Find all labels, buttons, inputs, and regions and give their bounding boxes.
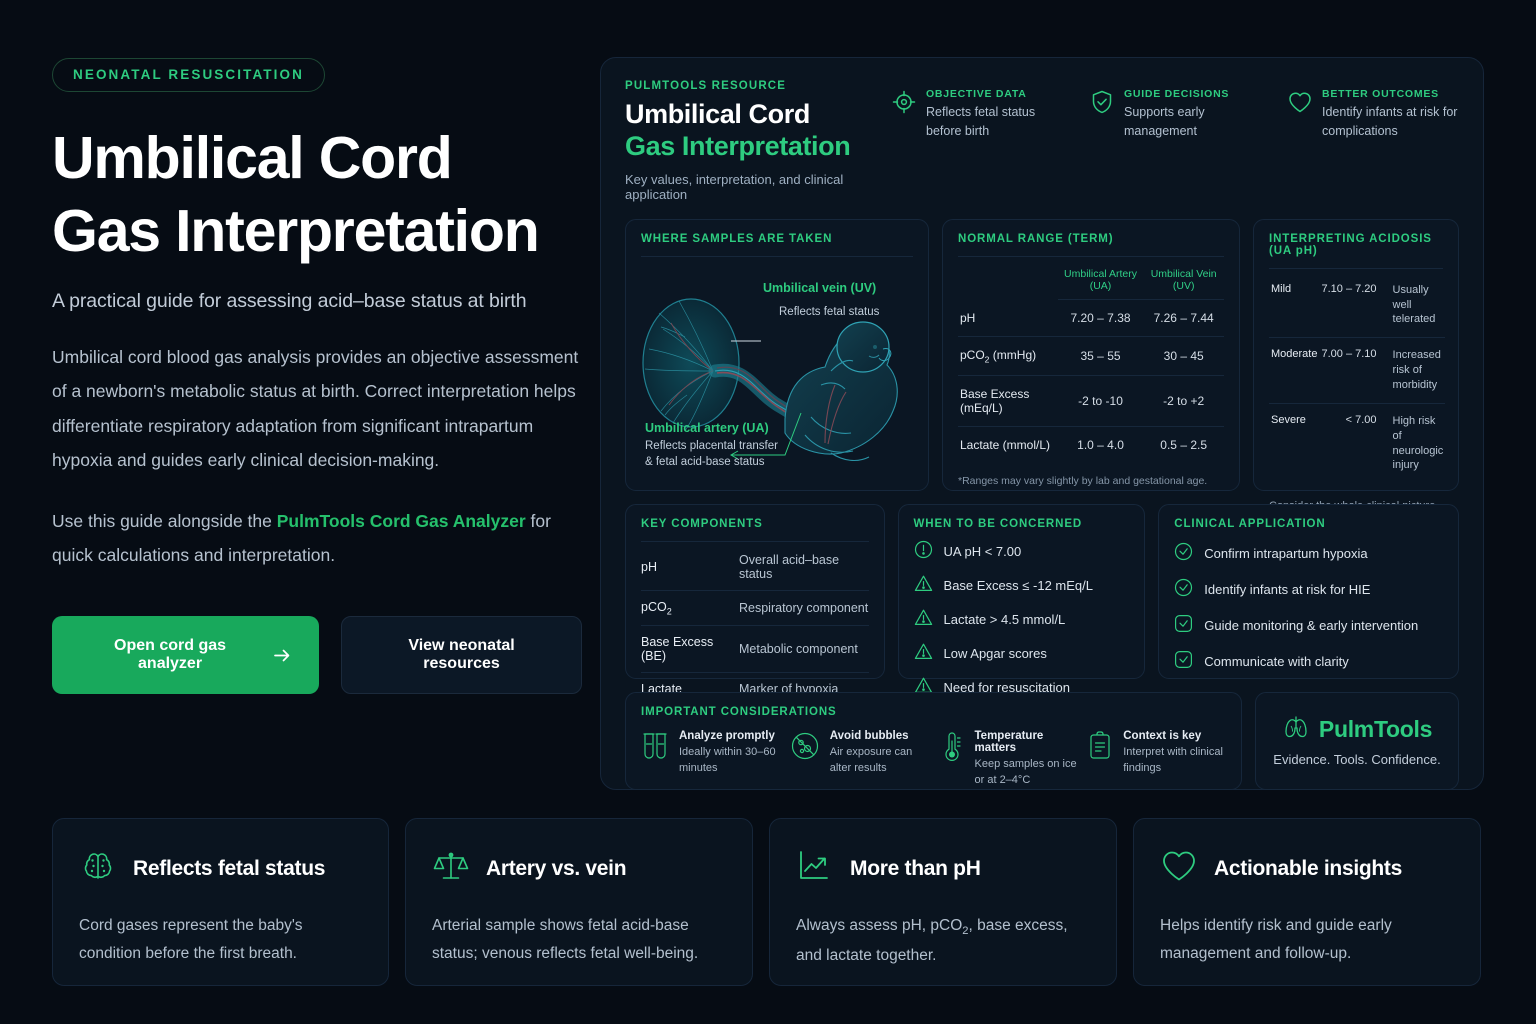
table-row: pH 7.20 – 7.38 7.26 – 7.44 (958, 299, 1224, 336)
row-ua-value: 7.20 – 7.38 (1058, 299, 1144, 336)
row-ua-value: 35 – 55 (1058, 336, 1144, 375)
component-desc: Overall acid–base status (739, 544, 869, 591)
umbilical-vein-label: Umbilical vein (UV) (763, 281, 893, 295)
considerations-grid: Analyze promptly Ideally within 30–60 mi… (641, 730, 1226, 789)
card-header: Artery vs. vein (432, 847, 726, 890)
vein-label-title: Umbilical vein (UV) (763, 281, 893, 295)
summary-card-more-than-ph: More than pH Always assess pH, pCO2, bas… (769, 818, 1117, 986)
panel-row-1: WHERE SAMPLES ARE TAKEN (625, 219, 1459, 491)
concern-text: Low Apgar scores (944, 646, 1047, 661)
key-components-card: KEY COMPONENTS pH Overall acid–base stat… (625, 504, 885, 679)
feature-title: GUIDE DECISIONS (1124, 88, 1261, 100)
row-label: pCO2 (mmHg) (958, 336, 1058, 375)
cta-paragraph: Use this guide alongside the PulmTools C… (52, 504, 582, 572)
concern-text: Lactate > 4.5 mmol/L (944, 612, 1066, 627)
heart-outline-icon (1160, 847, 1198, 890)
interpreting-acidosis-card: INTERPRETING ACIDOSIS (UA pH) Mild 7.10 … (1253, 219, 1459, 491)
clinical-text: Identify infants at risk for HIE (1204, 582, 1370, 597)
col-header-ua: Umbilical Artery (UA) (1058, 259, 1144, 300)
panel-header: PULMTOOLS RESOURCE Umbilical Cord Gas In… (625, 80, 1459, 202)
row-uv-value: 30 – 45 (1143, 336, 1224, 375)
table-row: Mild 7.10 – 7.20 Usually well telerated (1269, 273, 1445, 338)
brand-tagline: Evidence. Tools. Confidence. (1273, 752, 1440, 767)
summary-cards: Reflects fetal status Cord gases represe… (52, 818, 1481, 986)
divider (641, 256, 913, 257)
component-name: pH (641, 544, 739, 591)
feature-better-outcomes: BETTER OUTCOMES Identify infants at risk… (1287, 88, 1459, 141)
infographic-page: NEONATAL RESUSCITATION Umbilical Cord Ga… (0, 0, 1536, 1024)
pulmtools-brand-card: PulmTools Evidence. Tools. Confidence. (1255, 692, 1459, 790)
consideration-title: Context is key (1123, 730, 1226, 742)
page-title: Umbilical Cord Gas Interpretation (52, 122, 582, 268)
severity-desc: Usually well telerated (1385, 273, 1446, 338)
artery-label-desc: Reflects placental transfer & fetal acid… (645, 438, 785, 471)
card-title: Artery vs. vein (486, 857, 626, 881)
clipboard-icon (1087, 730, 1113, 789)
table-row: Moderate 7.00 – 7.10 Increased risk of m… (1269, 338, 1445, 404)
alert-circle-icon (914, 540, 933, 564)
warning-triangle-icon (914, 608, 933, 632)
warning-triangle-icon (914, 574, 933, 598)
severity-label: Moderate (1269, 338, 1319, 404)
table-header-row: Umbilical Artery (UA) Umbilical Vein (UV… (958, 259, 1224, 300)
table-row: Base Excess (BE) Metabolic component (641, 626, 869, 673)
card-desc: Arterial sample shows fetal acid-base st… (432, 912, 726, 967)
panel-subtitle: Key values, interpretation, and clinical… (625, 172, 873, 202)
clinical-application-card: CLINICAL APPLICATION Confirm intrapartum… (1158, 504, 1459, 679)
brand-row: PulmTools (1282, 714, 1432, 745)
consideration-temperature-matters: Temperature matters Keep samples on ice … (939, 730, 1078, 789)
card-title: KEY COMPONENTS (641, 518, 869, 530)
card-title: WHERE SAMPLES ARE TAKEN (641, 233, 913, 245)
row-uv-value: 0.5 – 2.5 (1143, 427, 1224, 464)
clinical-text: Confirm intrapartum hypoxia (1204, 546, 1367, 561)
no-bubbles-icon (790, 730, 820, 789)
row-uv-value: -2 to +2 (1143, 376, 1224, 427)
consideration-context-is-key: Context is key Interpret with clinical f… (1087, 730, 1226, 789)
check-circle-icon (1174, 578, 1193, 602)
hero-button-row: Open cord gas analyzer View neonatal res… (52, 616, 582, 694)
list-item: Lactate > 4.5 mmol/L (914, 608, 1130, 632)
summary-card-reflects-fetal-status: Reflects fetal status Cord gases represe… (52, 818, 389, 986)
severity-desc: High risk of neurologic injury (1385, 403, 1446, 483)
consideration-desc: Ideally within 30–60 minutes (679, 744, 780, 777)
component-desc: Metabolic component (739, 626, 869, 673)
severity-label: Severe (1269, 403, 1319, 483)
panel-header-text: PULMTOOLS RESOURCE Umbilical Cord Gas In… (625, 80, 873, 202)
severity-label: Mild (1269, 273, 1319, 338)
table-row: Severe < 7.00 High risk of neurologic in… (1269, 403, 1445, 483)
feature-objective-data: OBJECTIVE DATA Reflects fetal status bef… (891, 88, 1063, 141)
clinical-text: Communicate with clarity (1204, 654, 1349, 669)
view-neonatal-resources-button[interactable]: View neonatal resources (341, 616, 582, 694)
acidosis-table: Mild 7.10 – 7.20 Usually well telerated … (1269, 273, 1445, 483)
when-to-be-concerned-card: WHEN TO BE CONCERNED UA pH < 7.00 (898, 504, 1146, 679)
arrow-right-icon (274, 649, 291, 662)
check-square-icon (1174, 650, 1193, 674)
row-label: Lactate (mmol/L) (958, 427, 1058, 464)
list-item: Guide monitoring & early intervention (1174, 614, 1443, 638)
severity-desc: Increased risk of morbidity (1385, 338, 1446, 404)
title-line-2: Gas Interpretation (52, 198, 539, 264)
scales-icon (432, 847, 470, 890)
panel-title-line-1: Umbilical Cord (625, 98, 873, 130)
list-item: UA pH < 7.00 (914, 540, 1130, 564)
panel-row-2: KEY COMPONENTS pH Overall acid–base stat… (625, 504, 1459, 679)
consideration-analyze-promptly: Analyze promptly Ideally within 30–60 mi… (641, 730, 780, 789)
row-ua-value: 1.0 – 4.0 (1058, 427, 1144, 464)
anatomy-illustration: Umbilical vein (UV) Reflects fetal statu… (641, 263, 913, 487)
col-header-blank (958, 259, 1058, 300)
row-label: Base Excess (mEq/L) (958, 376, 1058, 427)
hero-section: NEONATAL RESUSCITATION Umbilical Cord Ga… (52, 58, 582, 694)
card-title: More than pH (850, 857, 981, 881)
check-circle-icon (1174, 542, 1193, 566)
summary-card-actionable-insights: Actionable insights Helps identify risk … (1133, 818, 1481, 986)
card-title: IMPORTANT CONSIDERATIONS (641, 706, 1226, 718)
table-row: pH Overall acid–base status (641, 544, 869, 591)
thermometer-icon (939, 730, 965, 789)
normal-range-table: Umbilical Artery (UA) Umbilical Vein (UV… (958, 259, 1224, 463)
clinical-text: Guide monitoring & early intervention (1204, 618, 1418, 633)
card-header: Reflects fetal status (79, 847, 362, 890)
where-samples-are-taken-card: WHERE SAMPLES ARE TAKEN (625, 219, 929, 491)
brand-name: PulmTools (1319, 716, 1432, 743)
card-title: NORMAL RANGE (TERM) (958, 233, 1224, 245)
trending-up-icon (796, 847, 834, 890)
umbilical-vein-desc: Reflects fetal status (779, 301, 889, 321)
intro-paragraph: Umbilical cord blood gas analysis provid… (52, 340, 582, 477)
table-row: Lactate (mmol/L) 1.0 – 4.0 0.5 – 2.5 (958, 427, 1224, 464)
component-desc: Respiratory component (739, 590, 869, 626)
divider (1269, 268, 1443, 269)
category-badge: NEONATAL RESUSCITATION (52, 58, 325, 92)
row-uv-value: 7.26 – 7.44 (1143, 299, 1224, 336)
concern-text: UA pH < 7.00 (944, 544, 1022, 559)
heart-icon (1287, 89, 1313, 141)
severity-range: 7.10 – 7.20 (1319, 273, 1384, 338)
primary-button-label: Open cord gas analyzer (80, 637, 260, 673)
consideration-desc: Air exposure can alter results (830, 744, 929, 777)
analyzer-link[interactable]: PulmTools Cord Gas Analyzer (277, 511, 526, 531)
card-header: Actionable insights (1160, 847, 1454, 890)
feature-guide-decisions: GUIDE DECISIONS Supports early managemen… (1089, 88, 1261, 141)
panel-title-line-2: Gas Interpretation (625, 130, 873, 162)
list-item: Identify infants at risk for HIE (1174, 578, 1443, 602)
table-row: Base Excess (mEq/L) -2 to -10 -2 to +2 (958, 376, 1224, 427)
panel-feature-list: OBJECTIVE DATA Reflects fetal status bef… (891, 88, 1459, 141)
list-item: Confirm intrapartum hypoxia (1174, 542, 1443, 566)
title-line-1: Umbilical Cord (52, 125, 452, 191)
feature-title: BETTER OUTCOMES (1322, 88, 1459, 100)
artery-label-title: Umbilical artery (UA) (645, 421, 785, 435)
target-icon (891, 89, 917, 141)
normal-range-note: *Ranges may vary slightly by lab and ges… (958, 475, 1224, 487)
component-name: Base Excess (BE) (641, 626, 739, 673)
card-title: Reflects fetal status (133, 857, 325, 881)
consideration-title: Temperature matters (975, 730, 1078, 754)
feature-desc: Identify infants at risk for complicatio… (1322, 103, 1459, 141)
list-item: Base Excess ≤ -12 mEq/L (914, 574, 1130, 598)
card-desc: Always assess pH, pCO2, base excess, and… (796, 912, 1090, 970)
divider (641, 541, 869, 542)
open-cord-gas-analyzer-button[interactable]: Open cord gas analyzer (52, 616, 319, 694)
card-title: INTERPRETING ACIDOSIS (UA pH) (1269, 233, 1443, 257)
consideration-title: Analyze promptly (679, 730, 780, 742)
cta-text-before: Use this guide alongside the (52, 511, 277, 531)
summary-card-artery-vs-vein: Artery vs. vein Arterial sample shows fe… (405, 818, 753, 986)
col-header-uv: Umbilical Vein (UV) (1143, 259, 1224, 300)
lungs-icon (1282, 714, 1310, 745)
shield-check-icon (1089, 89, 1115, 141)
vein-label-desc: Reflects fetal status (779, 304, 889, 321)
normal-range-card: NORMAL RANGE (TERM) Umbilical Artery (UA… (942, 219, 1240, 491)
key-components-table: pH Overall acid–base status pCO2 Respira… (641, 544, 869, 706)
table-row: pCO2 (mmHg) 35 – 55 30 – 45 (958, 336, 1224, 375)
feature-desc: Supports early management (1124, 103, 1261, 141)
list-item: Communicate with clarity (1174, 650, 1443, 674)
table-row: pCO2 Respiratory component (641, 590, 869, 626)
list-item: Low Apgar scores (914, 642, 1130, 666)
warning-triangle-icon (914, 642, 933, 666)
card-desc: Helps identify risk and guide early mana… (1160, 912, 1454, 967)
resource-panel: PULMTOOLS RESOURCE Umbilical Cord Gas In… (600, 57, 1484, 790)
card-header: More than pH (796, 847, 1090, 890)
umbilical-artery-label: Umbilical artery (UA) Reflects placental… (645, 421, 785, 471)
card-title: WHEN TO BE CONCERNED (914, 518, 1130, 530)
brain-icon (79, 847, 117, 890)
card-desc: Cord gases represent the baby's conditio… (79, 912, 362, 967)
check-square-icon (1174, 614, 1193, 638)
severity-range: 7.00 – 7.10 (1319, 338, 1384, 404)
consideration-desc: Interpret with clinical findings (1123, 744, 1226, 777)
feature-desc: Reflects fetal status before birth (926, 103, 1063, 141)
important-considerations-card: IMPORTANT CONSIDERATIONS Analyze promptl… (625, 692, 1242, 790)
card-title: Actionable insights (1214, 857, 1402, 881)
panel-row-3: IMPORTANT CONSIDERATIONS Analyze promptl… (625, 692, 1459, 790)
consideration-title: Avoid bubbles (830, 730, 929, 742)
row-ua-value: -2 to -10 (1058, 376, 1144, 427)
consideration-desc: Keep samples on ice or at 2–4°C (975, 756, 1078, 789)
page-subtitle: A practical guide for assessing acid–bas… (52, 290, 582, 313)
divider (958, 256, 1224, 257)
component-name: pCO2 (641, 590, 739, 626)
feature-title: OBJECTIVE DATA (926, 88, 1063, 100)
severity-range: < 7.00 (1319, 403, 1384, 483)
test-tubes-icon (641, 730, 669, 789)
panel-kicker: PULMTOOLS RESOURCE (625, 80, 873, 92)
card-title: CLINICAL APPLICATION (1174, 518, 1443, 530)
row-label: pH (958, 299, 1058, 336)
consideration-avoid-bubbles: Avoid bubbles Air exposure can alter res… (790, 730, 929, 789)
concern-text: Base Excess ≤ -12 mEq/L (944, 578, 1093, 593)
